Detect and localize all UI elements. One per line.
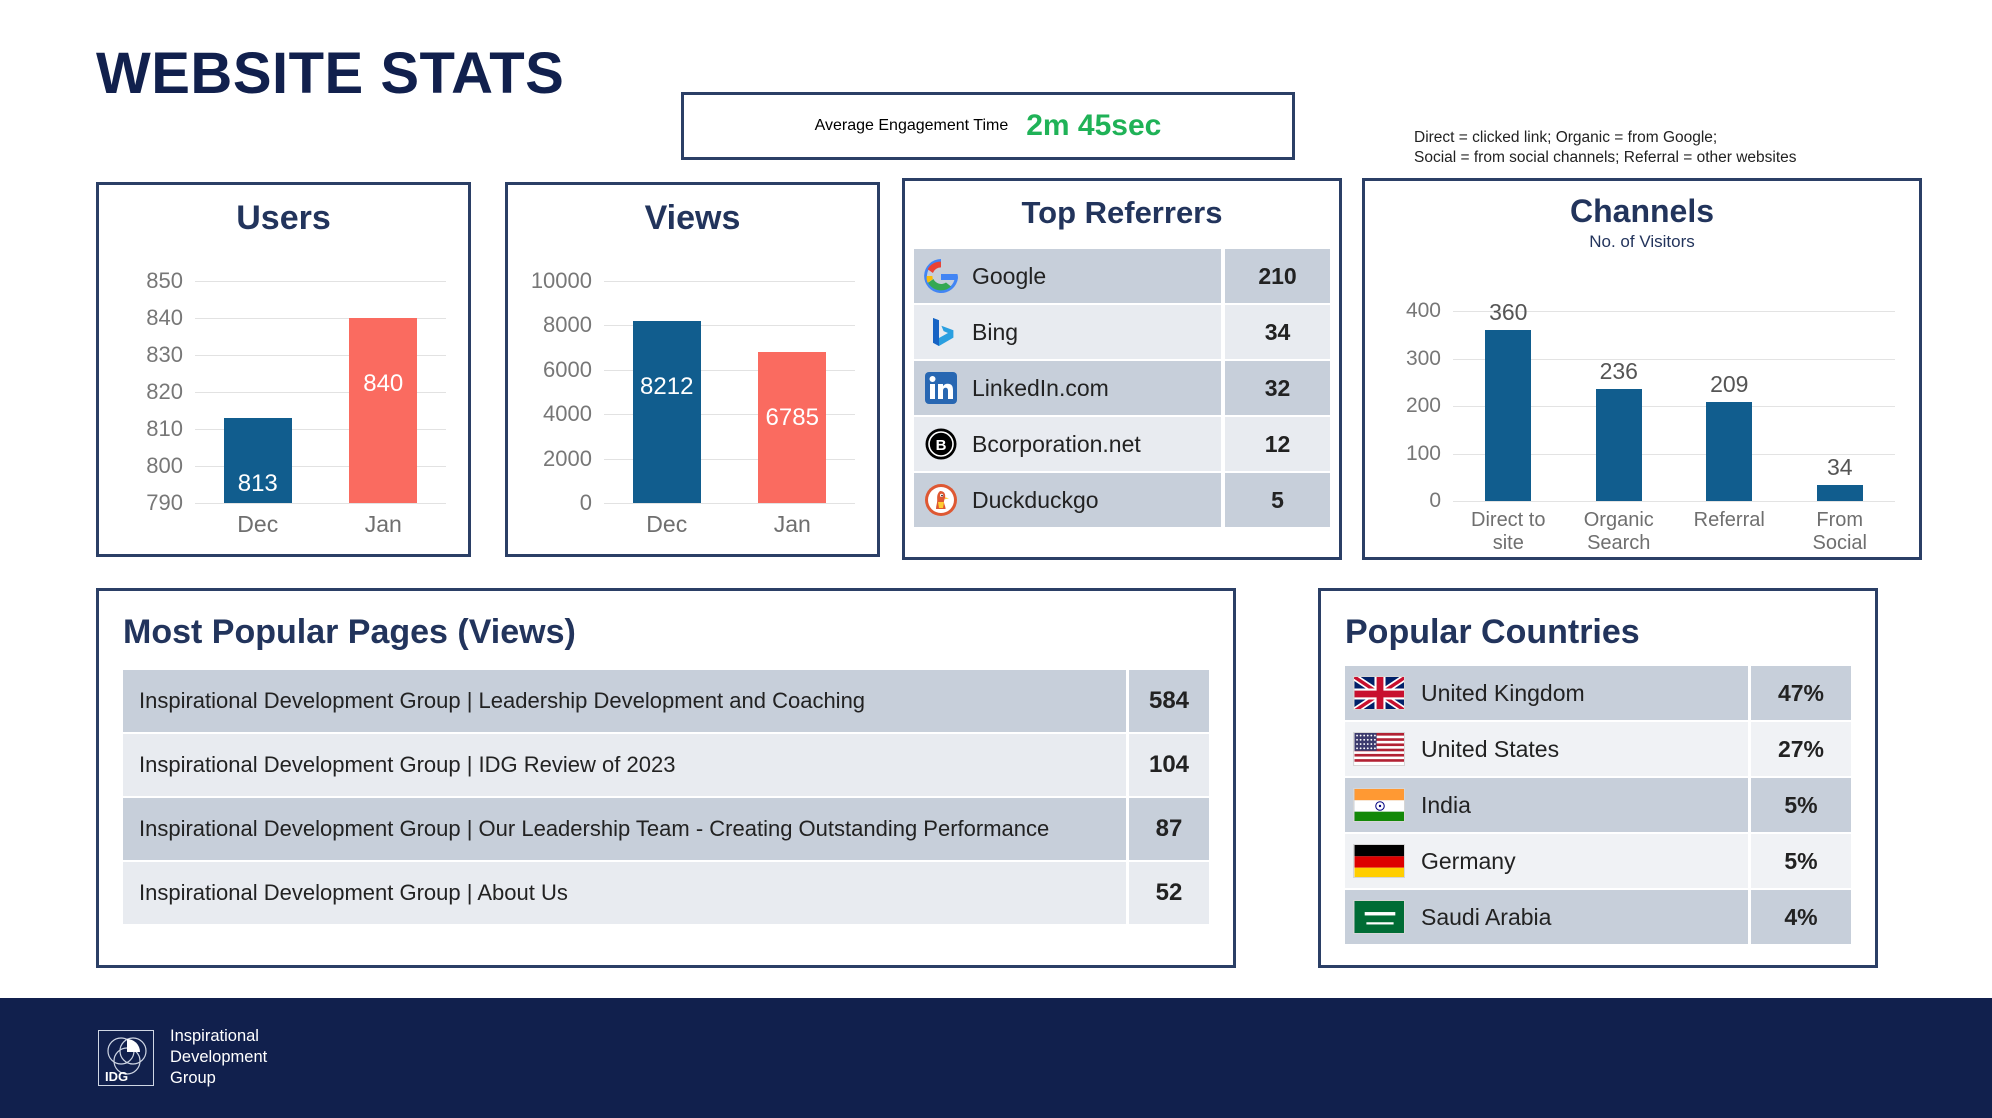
x-tick-label: Referral <box>1674 509 1785 555</box>
saudi-arabia-flag <box>1353 900 1405 934</box>
india-flag <box>1353 788 1405 822</box>
x-tick-label: Dec <box>195 511 321 538</box>
channels-chart-plot: 0100200300400 36023620934 Direct to site… <box>1365 277 1919 557</box>
most-popular-pages-list: Inspirational Development Group | Leader… <box>123 670 1209 924</box>
svg-text:IDG: IDG <box>105 1069 128 1084</box>
bar-slot: 360 <box>1453 311 1564 501</box>
bar-value-label: 360 <box>1453 299 1564 326</box>
country-percentage: 4% <box>1751 890 1851 944</box>
y-tick-label: 200 <box>1406 394 1441 418</box>
page-views-value: 52 <box>1129 862 1209 924</box>
referrer-row[interactable]: Bing34 <box>914 305 1330 359</box>
country-name: Saudi Arabia <box>1421 904 1551 931</box>
gridline <box>604 503 855 504</box>
country-percentage: 47% <box>1751 666 1851 720</box>
views-y-axis: 0200040006000800010000 <box>508 281 600 503</box>
x-tick-label: Jan <box>730 511 856 538</box>
engagement-label: Average Engagement Time <box>815 117 1009 135</box>
idg-logo-mark-icon: IDG <box>98 1030 154 1086</box>
country-name-cell: United Kingdom <box>1345 666 1748 720</box>
bar-slot: 209 <box>1674 311 1785 501</box>
y-tick-label: 100 <box>1406 442 1441 466</box>
bar-slot: 813 <box>195 281 321 503</box>
channels-x-axis: Direct to siteOrganic SearchReferralFrom… <box>1453 509 1895 555</box>
country-name: United States <box>1421 736 1559 763</box>
referrer-value: 210 <box>1225 249 1330 303</box>
page-row[interactable]: Inspirational Development Group | Our Le… <box>123 798 1209 860</box>
page-row[interactable]: Inspirational Development Group | Leader… <box>123 670 1209 732</box>
users-y-axis: 790800810820830840850 <box>99 281 191 503</box>
views-chart-title: Views <box>508 199 877 238</box>
gridline <box>195 503 446 504</box>
page-name: Inspirational Development Group | About … <box>123 862 1126 924</box>
country-name-cell: United States <box>1345 722 1748 776</box>
most-popular-pages-card: Most Popular Pages (Views) Inspirational… <box>96 588 1236 968</box>
x-tick-label: Organic Search <box>1564 509 1675 555</box>
views-chart-plot: 0200040006000800010000 82126785 DecJan <box>508 253 877 554</box>
country-percentage: 27% <box>1751 722 1851 776</box>
referrer-row[interactable]: Google210 <box>914 249 1330 303</box>
referrer-value: 12 <box>1225 417 1330 471</box>
referrer-row[interactable]: BBcorporation.net12 <box>914 417 1330 471</box>
country-name-cell: India <box>1345 778 1748 832</box>
country-percentage: 5% <box>1751 834 1851 888</box>
bar-slot: 236 <box>1564 311 1675 501</box>
popular-countries-list: United Kingdom47%United States27%India5%… <box>1345 666 1851 944</box>
most-popular-pages-title: Most Popular Pages (Views) <box>123 613 1233 652</box>
x-tick-label: Jan <box>321 511 447 538</box>
us-flag <box>1353 732 1405 766</box>
google-icon <box>924 259 958 293</box>
page-name: Inspirational Development Group | Leader… <box>123 670 1126 732</box>
popular-countries-card: Popular Countries United Kingdom47%Unite… <box>1318 588 1878 968</box>
bar: 6785 <box>758 352 826 503</box>
y-tick-label: 840 <box>146 305 183 331</box>
bar-value-label: 840 <box>349 370 417 398</box>
views-chart-card: Views 0200040006000800010000 82126785 De… <box>505 182 880 557</box>
country-row[interactable]: Saudi Arabia4% <box>1345 890 1851 944</box>
views-bars: 82126785 <box>604 281 855 503</box>
x-tick-label: From Social <box>1785 509 1896 555</box>
country-name: Germany <box>1421 848 1516 875</box>
dashboard-page: WEBSITE STATS Average Engagement Time 2m… <box>0 0 1992 1118</box>
bar: 840 <box>349 318 417 503</box>
top-referrers-list: Google210Bing34LinkedIn.com32BBcorporati… <box>914 249 1330 527</box>
idg-logo: IDG Inspirational Development Group <box>98 1026 267 1089</box>
page-row[interactable]: Inspirational Development Group | About … <box>123 862 1209 924</box>
y-tick-label: 0 <box>1429 489 1441 513</box>
y-tick-label: 4000 <box>543 401 592 427</box>
referrer-name-cell: Duckduckgo <box>914 473 1221 527</box>
referrer-name: Google <box>972 263 1046 290</box>
page-views-value: 104 <box>1129 734 1209 796</box>
referrer-name-cell: Bing <box>914 305 1221 359</box>
y-tick-label: 2000 <box>543 446 592 472</box>
country-row[interactable]: United States27% <box>1345 722 1851 776</box>
idg-logo-text: Inspirational Development Group <box>170 1026 267 1089</box>
users-chart-plot: 790800810820830840850 813840 DecJan <box>99 253 468 554</box>
referrer-value: 5 <box>1225 473 1330 527</box>
bar: 8212 <box>633 321 701 503</box>
uk-flag <box>1353 676 1405 710</box>
y-tick-label: 820 <box>146 379 183 405</box>
channels-y-axis: 0100200300400 <box>1365 311 1449 501</box>
country-row[interactable]: Germany5% <box>1345 834 1851 888</box>
y-tick-label: 10000 <box>531 268 592 294</box>
germany-flag <box>1353 844 1405 878</box>
referrer-name: Duckduckgo <box>972 487 1099 514</box>
page-views-value: 584 <box>1129 670 1209 732</box>
bar-slot: 34 <box>1785 311 1896 501</box>
bar <box>1485 330 1531 501</box>
channels-chart-subtitle: No. of Visitors <box>1365 232 1919 252</box>
top-referrers-card: Top Referrers Google210Bing34LinkedIn.co… <box>902 178 1342 560</box>
country-percentage: 5% <box>1751 778 1851 832</box>
linkedin-icon <box>924 371 958 405</box>
bar-value-label: 813 <box>224 470 292 498</box>
bar <box>1706 402 1752 501</box>
duckduckgo-icon <box>924 483 958 517</box>
bar-value-label: 209 <box>1674 371 1785 398</box>
page-name: Inspirational Development Group | Our Le… <box>123 798 1126 860</box>
bing-icon <box>924 315 958 349</box>
engagement-value: 2m 45sec <box>1026 109 1161 143</box>
channels-chart-card: Channels No. of Visitors 0100200300400 3… <box>1362 178 1922 560</box>
y-tick-label: 800 <box>146 453 183 479</box>
bcorp-icon: B <box>924 427 958 461</box>
y-tick-label: 6000 <box>543 357 592 383</box>
y-tick-label: 0 <box>580 490 592 516</box>
referrer-name-cell: LinkedIn.com <box>914 361 1221 415</box>
referrer-value: 32 <box>1225 361 1330 415</box>
users-chart-card: Users 790800810820830840850 813840 DecJa… <box>96 182 471 557</box>
channels-legend-note: Direct = clicked link; Organic = from Go… <box>1414 128 1797 168</box>
country-name: India <box>1421 792 1471 819</box>
page-name: Inspirational Development Group | IDG Re… <box>123 734 1126 796</box>
gridline <box>1453 501 1895 502</box>
bar <box>1596 389 1642 501</box>
y-tick-label: 300 <box>1406 347 1441 371</box>
bar-slot: 6785 <box>730 281 856 503</box>
referrer-name: Bing <box>972 319 1018 346</box>
page-row[interactable]: Inspirational Development Group | IDG Re… <box>123 734 1209 796</box>
referrer-name: Bcorporation.net <box>972 431 1141 458</box>
x-tick-label: Dec <box>604 511 730 538</box>
y-tick-label: 830 <box>146 342 183 368</box>
users-chart-title: Users <box>99 199 468 238</box>
popular-countries-title: Popular Countries <box>1345 613 1875 652</box>
bar-slot: 840 <box>321 281 447 503</box>
users-x-axis: DecJan <box>195 511 446 538</box>
y-tick-label: 400 <box>1406 299 1441 323</box>
channels-chart-title: Channels <box>1365 193 1919 230</box>
page-title: WEBSITE STATS <box>96 40 564 107</box>
bar-value-label: 8212 <box>633 373 701 401</box>
referrer-value: 34 <box>1225 305 1330 359</box>
country-row[interactable]: India5% <box>1345 778 1851 832</box>
referrer-name-cell: BBcorporation.net <box>914 417 1221 471</box>
country-row[interactable]: United Kingdom47% <box>1345 666 1851 720</box>
country-name-cell: Germany <box>1345 834 1748 888</box>
top-referrers-title: Top Referrers <box>905 195 1339 231</box>
bar-value-label: 236 <box>1564 358 1675 385</box>
referrer-row[interactable]: Duckduckgo5 <box>914 473 1330 527</box>
svg-text:B: B <box>936 437 947 454</box>
y-tick-label: 790 <box>146 490 183 516</box>
referrer-row[interactable]: LinkedIn.com32 <box>914 361 1330 415</box>
y-tick-label: 810 <box>146 416 183 442</box>
country-name-cell: Saudi Arabia <box>1345 890 1748 944</box>
x-tick-label: Direct to site <box>1453 509 1564 555</box>
referrer-name-cell: Google <box>914 249 1221 303</box>
bar-value-label: 34 <box>1785 454 1896 481</box>
footer-bar: IDG Inspirational Development Group <box>0 998 1992 1118</box>
page-views-value: 87 <box>1129 798 1209 860</box>
y-tick-label: 850 <box>146 268 183 294</box>
bar-slot: 8212 <box>604 281 730 503</box>
views-x-axis: DecJan <box>604 511 855 538</box>
y-tick-label: 8000 <box>543 312 592 338</box>
bar <box>1817 485 1863 501</box>
bar: 813 <box>224 418 292 503</box>
bar-value-label: 6785 <box>758 404 826 432</box>
average-engagement-time-box: Average Engagement Time 2m 45sec <box>681 92 1295 160</box>
referrer-name: LinkedIn.com <box>972 375 1109 402</box>
users-bars: 813840 <box>195 281 446 503</box>
channels-bars: 36023620934 <box>1453 311 1895 501</box>
country-name: United Kingdom <box>1421 680 1585 707</box>
